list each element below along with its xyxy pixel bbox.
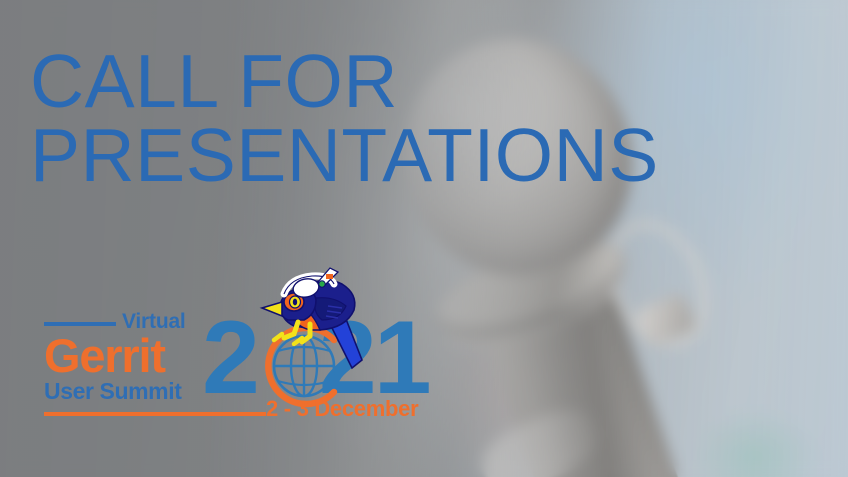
logo-brand-label: Gerrit bbox=[44, 332, 222, 380]
logo-date-label: 2 - 3 December bbox=[266, 396, 418, 422]
page-title: CALL FOR PRESENTATIONS bbox=[30, 44, 790, 193]
call-for-presentations-poster: CALL FOR PRESENTATIONS Virtual Gerrit Us… bbox=[0, 0, 848, 477]
logo-rule-icon bbox=[44, 322, 116, 326]
logo-year-block: 221 bbox=[202, 262, 454, 434]
year-digit-1: 2 bbox=[202, 300, 257, 416]
logo-wordmark: Virtual Gerrit User Summit bbox=[44, 310, 222, 416]
logo-subtitle-label: User Summit bbox=[44, 378, 222, 405]
gerrit-bird-mascot-icon bbox=[254, 264, 386, 372]
gerrit-user-summit-logo: Virtual Gerrit User Summit 221 bbox=[44, 262, 454, 434]
